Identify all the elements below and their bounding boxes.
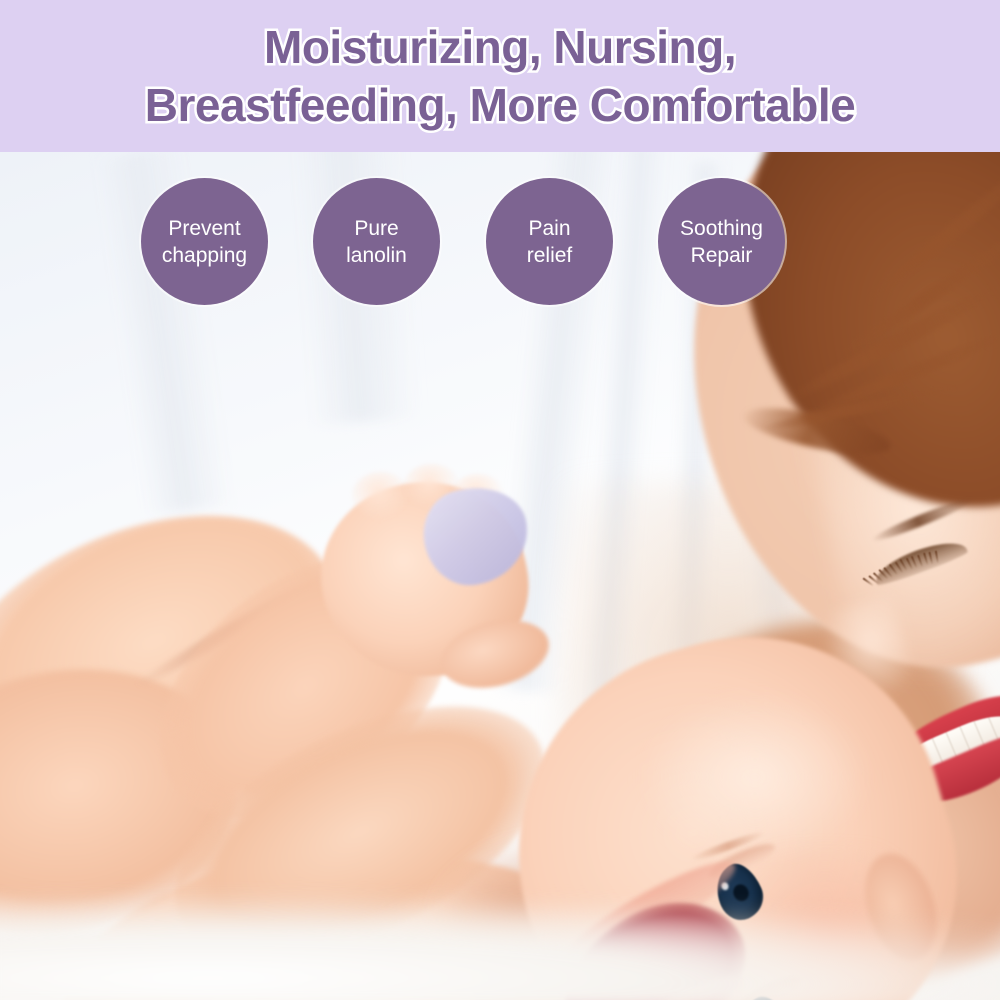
eyelash xyxy=(929,552,934,565)
eyelash xyxy=(923,553,929,566)
badge-label-line-1: Soothing xyxy=(680,217,763,240)
headline-line-1: Moisturizing, Nursing, xyxy=(264,18,736,76)
badge-label-line-2: Repair xyxy=(691,244,753,267)
badge-label: Pain relief xyxy=(521,215,579,269)
badge-pure-lanolin[interactable]: Pure lanolin xyxy=(313,178,440,305)
badge-label-line-2: relief xyxy=(527,244,573,267)
badge-soothing-repair[interactable]: Soothing Repair xyxy=(658,178,785,305)
eyelash xyxy=(934,550,938,563)
baby-knuckle xyxy=(352,472,410,520)
badge-pain-relief[interactable]: Pain relief xyxy=(486,178,613,305)
ad-banner-root: Moisturizing, Nursing, Breastfeeding, Mo… xyxy=(0,0,1000,1000)
badge-label-line-2: lanolin xyxy=(346,244,407,267)
eyelash xyxy=(917,554,923,567)
badge-label: Pure lanolin xyxy=(340,215,413,269)
header-banner: Moisturizing, Nursing, Breastfeeding, Mo… xyxy=(0,0,1000,152)
badge-prevent-chapping[interactable]: Prevent chapping xyxy=(141,178,268,305)
badge-label: Soothing Repair xyxy=(674,215,769,269)
bedding-foreground xyxy=(0,894,1000,1000)
badge-label-line-2: chapping xyxy=(162,244,247,267)
feature-badge-row: Prevent chapping Pure lanolin Pain relie… xyxy=(0,178,1000,306)
badge-label-line-1: Prevent xyxy=(168,217,240,240)
badge-label-line-1: Pure xyxy=(354,217,398,240)
badge-label: Prevent chapping xyxy=(156,215,253,269)
headline-line-2: Breastfeeding, More Comfortable xyxy=(145,76,855,134)
badge-label-line-1: Pain xyxy=(528,217,570,240)
